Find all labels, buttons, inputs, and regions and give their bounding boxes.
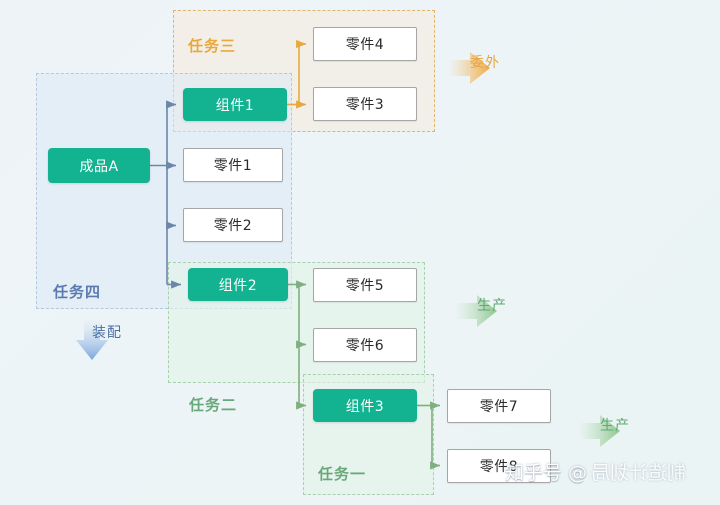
node-part-6[interactable]: 零件6: [313, 328, 417, 362]
node-label: 零件5: [346, 275, 384, 295]
legend-label-production-upper: 生产: [477, 295, 507, 315]
watermark-text-overlay: 制造计划局: [591, 458, 686, 485]
node-label: 零件3: [346, 94, 384, 114]
region-label-task-one: 任务一: [318, 463, 366, 484]
node-component-3[interactable]: 组件3: [313, 389, 417, 422]
node-part-3[interactable]: 零件3: [313, 87, 417, 121]
node-label: 零件2: [214, 215, 252, 235]
node-label: 组件3: [346, 396, 384, 416]
node-part-1[interactable]: 零件1: [183, 148, 283, 182]
node-part-2[interactable]: 零件2: [183, 208, 283, 242]
node-label: 组件2: [219, 275, 257, 295]
region-label-task-two: 任务二: [189, 394, 237, 415]
node-part-5[interactable]: 零件5: [313, 268, 417, 302]
legend-label-assembly: 装配: [72, 322, 142, 342]
node-label: 组件1: [216, 95, 254, 115]
region-label-task-four: 任务四: [53, 281, 101, 302]
diagram-canvas: 任务三 任务四 任务二 任务一: [0, 0, 720, 505]
region-label-task-three: 任务三: [188, 35, 236, 56]
node-part-7[interactable]: 零件7: [447, 389, 551, 423]
legend-production-upper: 生产: [455, 295, 507, 315]
legend-outsourcing: 委外: [448, 52, 500, 72]
legend-production-lower: 生产: [578, 415, 630, 435]
node-label: 零件7: [480, 396, 518, 416]
legend-label-outsourcing: 委外: [470, 52, 500, 72]
node-component-1[interactable]: 组件1: [183, 88, 287, 121]
watermark-text: 知乎号 @: [505, 462, 587, 484]
legend-label-production-lower: 生产: [600, 415, 630, 435]
node-finished-product-a[interactable]: 成品A: [48, 148, 150, 183]
node-label: 成品A: [79, 156, 118, 176]
node-component-2[interactable]: 组件2: [188, 268, 288, 301]
node-label: 零件1: [214, 155, 252, 175]
node-label: 零件4: [346, 34, 384, 54]
node-label: 零件6: [346, 335, 384, 355]
node-part-4[interactable]: 零件4: [313, 27, 417, 61]
watermark: 知乎号 @ 制造计划局: [505, 458, 587, 485]
legend-assembly: 装配: [72, 318, 142, 342]
